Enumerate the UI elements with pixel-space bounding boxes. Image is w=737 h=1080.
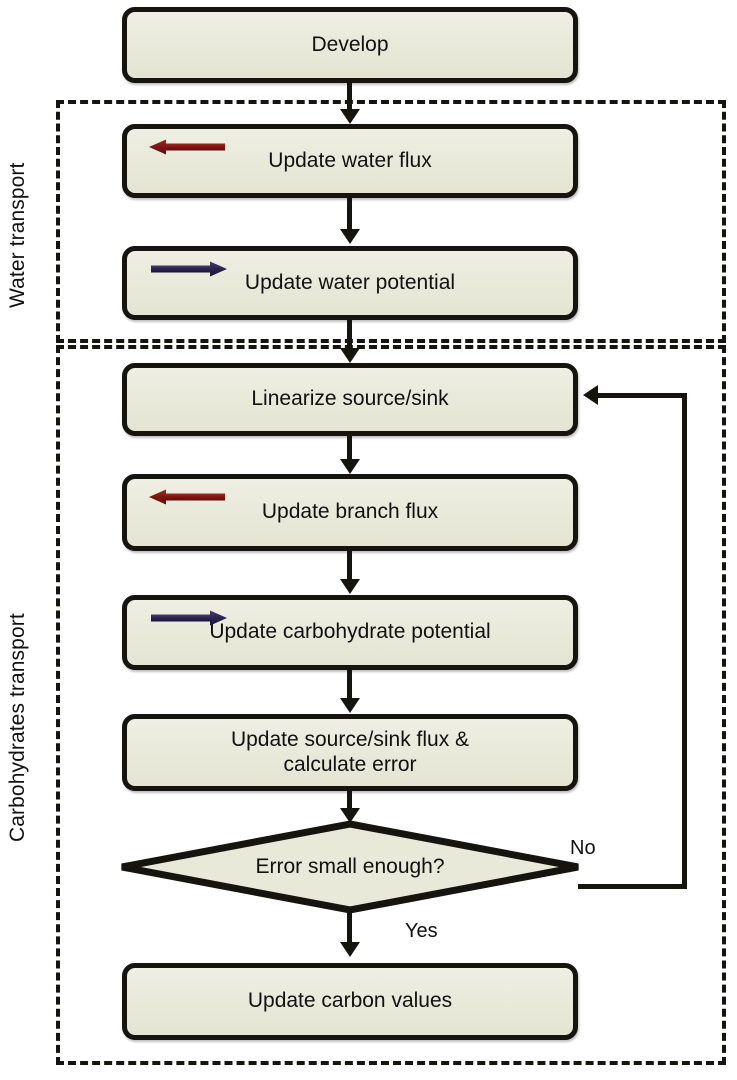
- left-arrow-red-icon: [149, 139, 227, 155]
- edge-label-no: No: [570, 837, 596, 860]
- node-linearize-source-sink[interactable]: Linearize source/sink: [122, 363, 578, 436]
- region-carbohydrates-transport: [56, 345, 726, 1065]
- region-label-water-transport: Water transport: [6, 163, 30, 308]
- node-update-carbohydrate-potential[interactable]: Update carbohydrate potential: [122, 595, 578, 670]
- node-update-source-sink-flux[interactable]: Update source/sink flux & calculate erro…: [122, 714, 578, 791]
- node-update-branch-flux[interactable]: Update branch flux: [122, 474, 578, 551]
- node-update-water-potential-label: Update water potential: [235, 271, 465, 295]
- right-arrow-purple-icon: [149, 261, 227, 277]
- node-update-source-sink-flux-line1: Update source/sink flux &: [231, 728, 469, 751]
- node-update-water-flux[interactable]: Update water flux: [122, 124, 578, 198]
- node-update-water-flux-label: Update water flux: [258, 149, 441, 173]
- node-develop[interactable]: Develop: [122, 7, 578, 83]
- left-arrow-red-icon: [149, 489, 227, 505]
- node-develop-label: Develop: [301, 33, 398, 57]
- node-update-carbon-values-label: Update carbon values: [238, 989, 462, 1013]
- node-update-carbon-values[interactable]: Update carbon values: [122, 963, 578, 1040]
- flowchart-canvas: Water transport Carbohydrates transport …: [0, 0, 737, 1080]
- node-update-branch-flux-label: Update branch flux: [252, 500, 448, 524]
- node-update-source-sink-flux-line2: calculate error: [231, 753, 469, 777]
- node-update-source-sink-flux-label: Update source/sink flux & calculate erro…: [221, 728, 479, 776]
- node-update-water-potential[interactable]: Update water potential: [122, 246, 578, 320]
- right-arrow-purple-icon: [149, 610, 227, 626]
- node-linearize-label: Linearize source/sink: [241, 387, 458, 411]
- edge-label-yes: Yes: [405, 920, 438, 943]
- node-update-carbohydrate-potential-label: Update carbohydrate potential: [199, 620, 500, 644]
- node-error-small-enough[interactable]: Error small enough?: [118, 820, 582, 914]
- node-error-small-enough-label: Error small enough?: [118, 820, 582, 914]
- region-label-carbohydrates-transport: Carbohydrates transport: [6, 613, 30, 842]
